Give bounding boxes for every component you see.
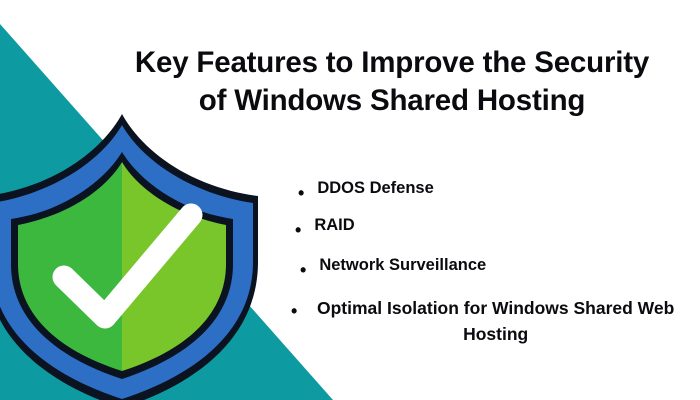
shield-outer-outline — [0, 114, 258, 400]
bullet-dot-icon: • — [291, 302, 297, 320]
list-item-label: RAID — [314, 215, 684, 236]
list-item: • Network Surveillance — [300, 255, 684, 279]
list-item-label: Optimal Isolation for Windows Shared Web… — [309, 295, 684, 347]
list-item: • DDOS Defense — [298, 178, 684, 202]
title-line-1: Key Features to Improve the Security — [96, 44, 688, 82]
checkmark-icon — [64, 215, 191, 317]
feature-list: • DDOS Defense • RAID • Network Surveill… — [286, 178, 684, 347]
list-item-label: Network Surveillance — [319, 255, 684, 276]
bullet-dot-icon: • — [300, 261, 306, 279]
infographic-slide: Key Features to Improve the Security of … — [0, 0, 700, 400]
list-item-label: DDOS Defense — [317, 178, 684, 199]
title-line-2: of Windows Shared Hosting — [96, 82, 688, 120]
security-shield-icon — [0, 112, 264, 400]
bullet-dot-icon: • — [295, 221, 301, 239]
list-item: • RAID — [295, 215, 684, 239]
page-title: Key Features to Improve the Security of … — [96, 44, 688, 120]
shield-ring — [0, 125, 253, 399]
shield-face-right — [122, 112, 264, 400]
bullet-dot-icon: • — [298, 184, 304, 202]
list-item: • Optimal Isolation for Windows Shared W… — [291, 295, 684, 347]
shield-inner-outline — [11, 152, 233, 379]
shield-face-left — [0, 112, 122, 400]
